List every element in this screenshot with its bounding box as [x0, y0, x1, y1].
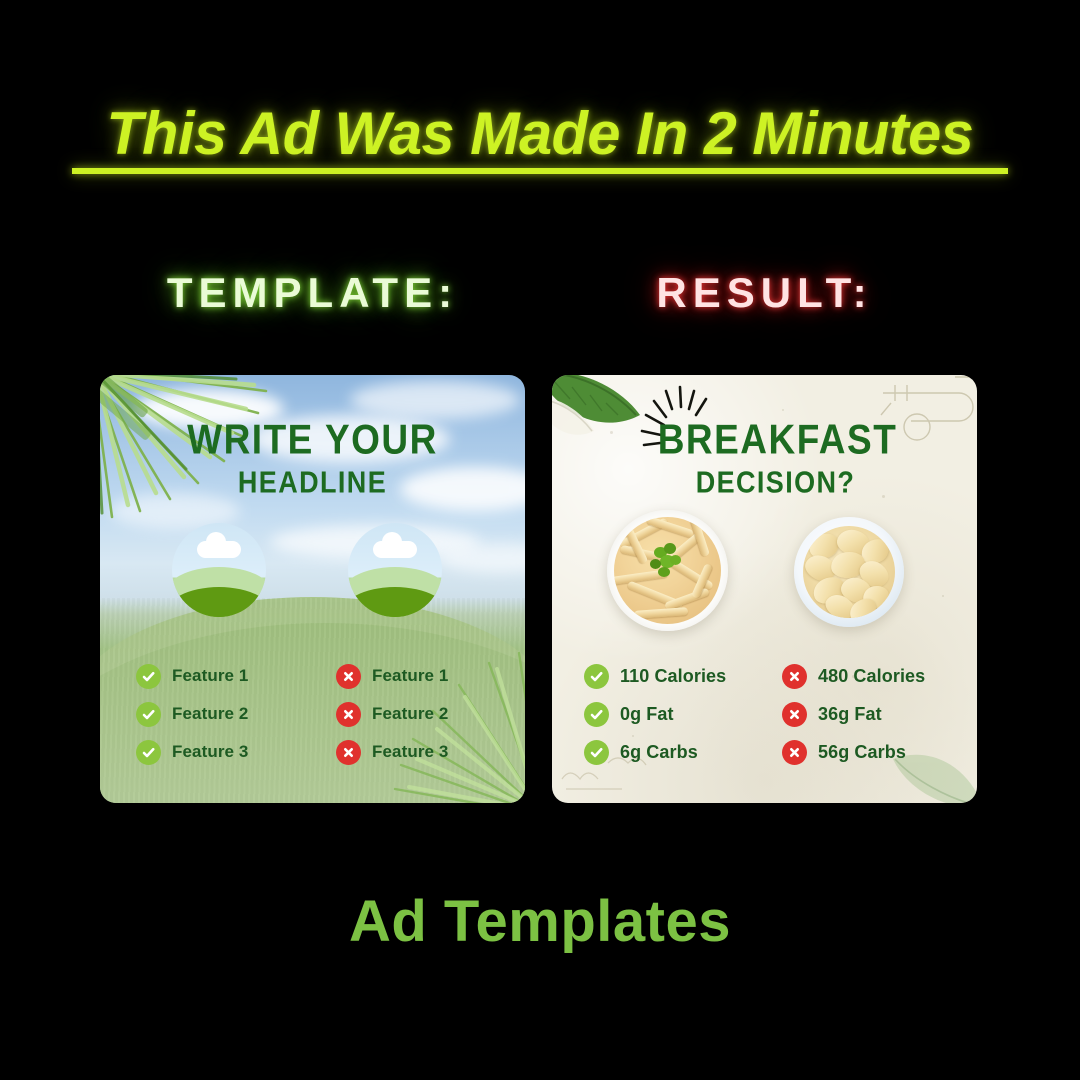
column-label-result: RESULT:	[552, 272, 977, 314]
bowl-of-chips-image[interactable]	[794, 517, 904, 627]
list-item-label: Feature 1	[172, 666, 249, 686]
list-item[interactable]: 110 Calories	[584, 657, 726, 695]
list-item[interactable]: 56g Carbs	[782, 733, 925, 771]
check-circle-icon	[136, 702, 161, 727]
cloud-icon	[373, 541, 417, 558]
template-card-title-line2: HEADLINE	[100, 468, 525, 498]
list-item[interactable]: 480 Calories	[782, 657, 925, 695]
list-item-label: 110 Calories	[620, 666, 726, 687]
check-circle-icon	[136, 664, 161, 689]
brand-wordmark: Ad Templates	[0, 893, 1080, 951]
list-item-label: 6g Carbs	[620, 742, 698, 763]
x-circle-icon	[782, 664, 807, 689]
list-item-label: 480 Calories	[818, 666, 925, 687]
result-card[interactable]: BREAKFAST DECISION?	[552, 375, 977, 803]
template-card-title-line1: WRITE YOUR	[100, 419, 525, 460]
list-item-label: Feature 1	[372, 666, 449, 686]
list-item[interactable]: Feature 2	[336, 695, 449, 733]
headline-block: This Ad Was Made In 2 Minutes	[0, 104, 1080, 164]
list-item[interactable]: Feature 3	[136, 733, 249, 771]
list-item-label: 36g Fat	[818, 704, 882, 725]
list-item-label: Feature 2	[372, 704, 449, 724]
list-item[interactable]: 0g Fat	[584, 695, 726, 733]
page-title: This Ad Was Made In 2 Minutes	[107, 104, 974, 164]
fries-content	[614, 517, 721, 624]
list-item-label: Feature 3	[172, 742, 249, 762]
x-circle-icon	[336, 702, 361, 727]
check-circle-icon	[136, 740, 161, 765]
template-pros-list: Feature 1 Feature 2 Feature 3	[136, 657, 249, 771]
paper-speck	[942, 595, 944, 597]
list-item[interactable]: Feature 1	[336, 657, 449, 695]
chips-content	[803, 526, 895, 618]
headline-underline	[72, 168, 1008, 174]
column-label-template: TEMPLATE:	[100, 272, 525, 314]
result-cons-list: 480 Calories 36g Fat 56g Carbs	[782, 657, 925, 771]
image-placeholder-2[interactable]	[348, 523, 442, 617]
x-circle-icon	[782, 702, 807, 727]
x-circle-icon	[336, 664, 361, 689]
list-item-label: 0g Fat	[620, 704, 674, 725]
list-item[interactable]: Feature 2	[136, 695, 249, 733]
ad-canvas: This Ad Was Made In 2 Minutes TEMPLATE: …	[0, 0, 1080, 1080]
x-circle-icon	[336, 740, 361, 765]
bowl-of-fries-image[interactable]	[607, 510, 728, 631]
check-circle-icon	[584, 740, 609, 765]
check-circle-icon	[584, 702, 609, 727]
list-item[interactable]: 36g Fat	[782, 695, 925, 733]
result-card-title-line2: DECISION?	[574, 468, 977, 498]
list-item-label: 56g Carbs	[818, 742, 906, 763]
result-card-title-line1: BREAKFAST	[578, 419, 977, 460]
list-item-label: Feature 2	[172, 704, 249, 724]
cloud-icon	[197, 541, 241, 558]
paper-speck	[782, 409, 784, 411]
x-circle-icon	[782, 740, 807, 765]
template-card[interactable]: WRITE YOUR HEADLINE Feature 1	[100, 375, 525, 803]
list-item[interactable]: 6g Carbs	[584, 733, 726, 771]
list-item[interactable]: Feature 1	[136, 657, 249, 695]
list-item-label: Feature 3	[372, 742, 449, 762]
result-pros-list: 110 Calories 0g Fat 6g Carbs	[584, 657, 726, 771]
check-circle-icon	[584, 664, 609, 689]
template-cons-list: Feature 1 Feature 2 Feature 3	[336, 657, 449, 771]
image-placeholder-1[interactable]	[172, 523, 266, 617]
list-item[interactable]: Feature 3	[336, 733, 449, 771]
